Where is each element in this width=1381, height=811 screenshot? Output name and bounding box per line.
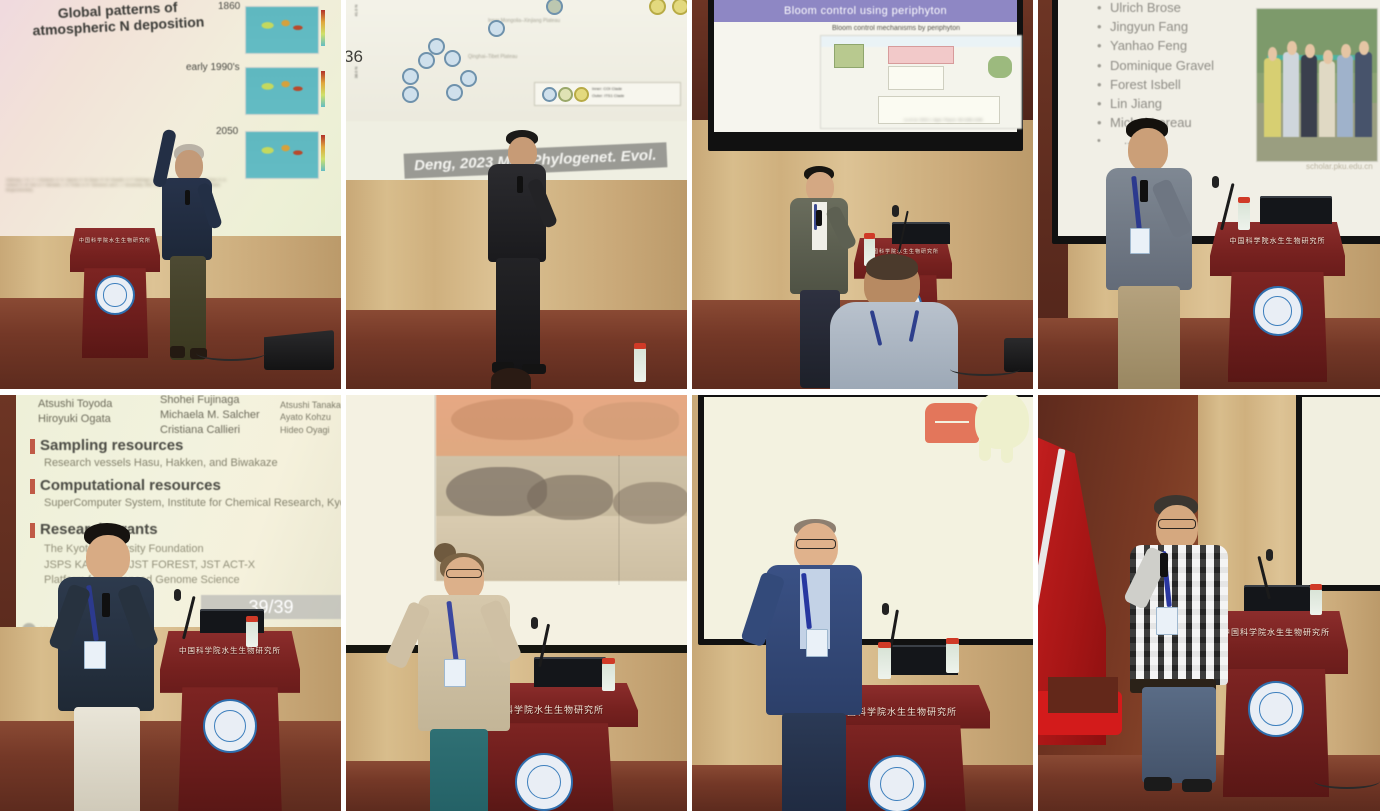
podium-seal (95, 275, 135, 315)
name-badge (806, 629, 828, 657)
presenter-panel-1 (158, 138, 228, 368)
map-label-1990s: early 1990's (186, 62, 240, 73)
name-item: Hiroyuki Ogata (38, 412, 112, 427)
microphone (1160, 553, 1168, 577)
glasses (446, 569, 482, 578)
colorbar-1860 (321, 10, 325, 46)
axis-tick-38n: 38.0 N (353, 67, 358, 79)
cartoon-red-shape (925, 403, 979, 443)
photo-grid: Global patterns of atmospheric N deposit… (0, 0, 1381, 811)
cave-animal-horse (527, 475, 613, 521)
diagram-periphyton-icon (834, 44, 864, 68)
cable (950, 362, 1020, 376)
photo-panel-6: 中国科学院水生生物研究所 (346, 395, 687, 811)
legend-title-outer: Outer: ITS1 Clade (592, 93, 624, 98)
microphone (517, 176, 523, 193)
presenter-panel-5 (54, 523, 164, 811)
cartoon-illustration (917, 397, 1033, 467)
name-item: Cristiana Callieri (160, 423, 260, 438)
water-bottle-right (946, 643, 959, 673)
section-heading: Computational resources (40, 477, 341, 494)
slide-website: scholar.pku.edu.cn (1306, 162, 1373, 171)
podium-seal (868, 755, 926, 811)
laptop (534, 657, 606, 687)
photo-panel-8: 中国科学院水生生物研究所 (1038, 395, 1380, 811)
podium-seal (203, 699, 257, 753)
cable (196, 345, 266, 361)
water-bottle (246, 621, 258, 647)
water-bottle (1310, 589, 1322, 615)
water-bottle-left (878, 647, 891, 679)
group-photo (1256, 8, 1378, 162)
cave-animal-mammoth (613, 482, 687, 524)
section-body: SuperComputer System, Institute for Chem… (44, 497, 341, 509)
list-item: Ulrich Brose (1110, 0, 1214, 17)
presenter-panel-8 (1130, 495, 1240, 795)
podium-panel-1: 中国科学院水生生物研究所 (70, 228, 160, 358)
colorbar-2050 (321, 135, 325, 171)
podium-text: 中国科学院水生生物研究所 (867, 248, 939, 255)
name-item: Hideo Oyagi (280, 424, 341, 436)
legend-title-inner: Inner: COI Clade (592, 86, 622, 91)
water-bottle (602, 663, 615, 691)
photo-panel-2: 36 41.0 N 38.0 N Inner Mongolia–Xinjiang… (346, 0, 687, 389)
podium-text: 中国科学院水生生物研究所 (1230, 236, 1326, 246)
podium-seal (1253, 286, 1303, 336)
photo-panel-3: Bloom control using periphyton Bloom con… (692, 0, 1033, 389)
slide-banner-panel-3: Bloom control using periphyton (714, 0, 1017, 22)
microphone (102, 593, 110, 617)
laptop (1244, 585, 1310, 611)
legend-swatch-green (558, 87, 573, 102)
map-site-RGR (460, 70, 477, 87)
colorbar-1990s (321, 71, 325, 107)
cable (1314, 773, 1380, 789)
podium-panel-5: 中国科学院水生生物研究所 (160, 631, 300, 811)
diagram-box-a (888, 46, 954, 64)
list-item: Forest Isbell (1110, 75, 1214, 94)
slide-figure-title: Bloom control mechanisms by periphyton (832, 25, 960, 32)
axis-tick-41n: 41.0 N (353, 5, 358, 17)
slide-citation-panel-3: Lu et al. 2023 J. Appl. Phycol. 35:1285-… (904, 117, 983, 122)
map-site-GHH (488, 20, 505, 37)
laptop (1260, 196, 1332, 224)
glasses (1158, 519, 1196, 529)
map-site-QQT (402, 86, 419, 103)
presenter-panel-2 (486, 130, 566, 378)
map-site-NQH (444, 50, 461, 67)
presenter-panel-6 (412, 543, 522, 811)
section-computational-resources: Computational resources SuperComputer Sy… (30, 477, 341, 509)
name-item: Atsushi Toyoda (38, 397, 112, 412)
world-map-1860 (245, 6, 319, 54)
map-site-KQR-2 (672, 0, 687, 15)
podium-seal (1248, 681, 1304, 737)
name-badge (444, 659, 466, 687)
world-map-1990s (245, 67, 319, 115)
microphone (185, 190, 190, 205)
list-item: Lin Jiang (1110, 94, 1214, 113)
podium-panel-4: 中国科学院水生生物研究所 (1210, 222, 1345, 382)
axis-tick-major: 36 (346, 47, 363, 67)
water-bottle (634, 348, 646, 382)
map-label-2050: 2050 (216, 126, 238, 137)
names-column-2: Shohei Fujinaga Michaela M. Salcher Cris… (160, 395, 260, 438)
photo-panel-7: 中国科学院水生生物研究所 (692, 395, 1033, 811)
region-label-qinghai-tibet: Qinghai–Tibet Plateau (468, 54, 517, 60)
slide-banner-text: Bloom control using periphyton (784, 5, 947, 17)
name-badge (1156, 607, 1178, 635)
names-column-3: Atsushi Tanaka Ayato Kohzu Hideo Oyagi (280, 399, 341, 436)
name-item: Michaela M. Salcher (160, 408, 260, 423)
map-site-QLP (402, 68, 419, 85)
map-label-1860: 1860 (218, 1, 240, 12)
glasses (796, 539, 836, 549)
world-map-2050 (245, 131, 319, 179)
podium-text: 中国科学院水生生物研究所 (79, 237, 151, 244)
section-sampling-resources: Sampling resources Research vessels Hasu… (30, 437, 278, 469)
legend-swatch-yellow (574, 87, 589, 102)
microphone (816, 210, 822, 226)
section-heading: Sampling resources (40, 437, 278, 454)
name-badge (84, 641, 106, 669)
name-item: Atsushi Tanaka (280, 399, 341, 411)
stage-step (1048, 677, 1118, 713)
photo-panel-5: Atsushi Toyoda Hiroyuki Ogata Shohei Fuj… (0, 395, 341, 811)
name-badge (1130, 228, 1150, 254)
microphone (1140, 180, 1148, 202)
name-item: Ayato Kohzu (280, 411, 341, 423)
diagram-box-b (888, 66, 944, 90)
photo-panel-4: Ulrich Brose Jingyun Fang Yanhao Feng Do… (1038, 0, 1380, 389)
list-item: Yanhao Feng (1110, 36, 1214, 55)
list-item: Dominique Gravel (1110, 56, 1214, 75)
water-bottle (1238, 202, 1250, 230)
cave-animal-rhino (451, 399, 572, 441)
audience-member-panel-3 (830, 256, 958, 389)
map-site-XLP (446, 84, 463, 101)
section-body: Research vessels Hasu, Hakken, and Biwak… (44, 457, 278, 469)
names-column-1: Atsushi Toyoda Hiroyuki Ogata (38, 397, 112, 427)
projection-screen (1302, 397, 1380, 585)
podium-seal (515, 753, 573, 811)
cave-animal-lion (583, 402, 679, 440)
name-item: Shohei Fujinaga (160, 395, 260, 408)
legend-swatch-blue (542, 87, 557, 102)
presenter-panel-4 (1104, 118, 1196, 389)
list-item: Jingyun Fang (1110, 17, 1214, 36)
podium-text: 中国科学院水生生物研究所 (179, 645, 281, 656)
map-site-NMC (418, 52, 435, 69)
photo-panel-1: Global patterns of atmospheric N deposit… (0, 0, 341, 389)
presenter-panel-7 (764, 517, 874, 811)
diagram-cyanobacteria-icon (988, 56, 1012, 78)
